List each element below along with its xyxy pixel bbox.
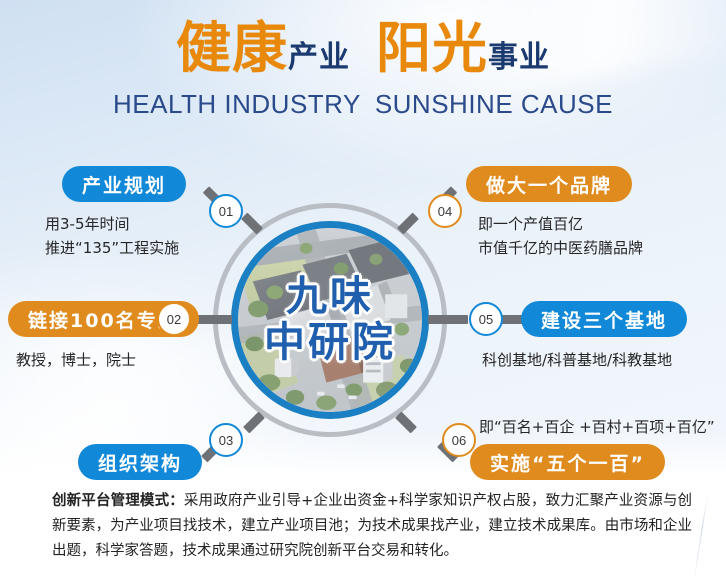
title-health-big: 健康 xyxy=(176,16,288,80)
node-03-pill[interactable]: 组织架构 xyxy=(78,444,202,480)
title-sunshine-small: 事业 xyxy=(488,40,550,75)
node-05-number: 05 xyxy=(479,312,493,327)
hub-blue-ring xyxy=(231,221,429,419)
node-02-badge[interactable]: 02 xyxy=(157,302,191,336)
node-03-number: 03 xyxy=(219,433,233,448)
node-03-label: 组织架构 xyxy=(98,449,182,476)
footer-paragraph: 创新平台管理模式：采用政府产业引导+企业出资金+科学家知识产权占股，致力汇聚产业… xyxy=(52,489,692,564)
node-01-badge[interactable]: 01 xyxy=(209,194,243,228)
footer-lead: 创新平台管理模式： xyxy=(52,493,184,509)
node-04-desc-line-1: 即一个产值百亿 xyxy=(478,212,643,236)
center-hub: 九味 中研院 xyxy=(213,203,447,437)
subtitle-health-industry: HEALTH INDUSTRY xyxy=(113,89,361,119)
connector-05-outer xyxy=(501,315,523,324)
node-05-pill[interactable]: 建设三个基地 xyxy=(521,301,687,337)
node-06-number: 06 xyxy=(452,433,466,448)
node-01-number: 01 xyxy=(219,204,233,219)
node-04-pill[interactable]: 做大一个品牌 xyxy=(466,166,632,202)
node-03-badge[interactable]: 03 xyxy=(209,423,243,457)
node-05-label: 建设三个基地 xyxy=(541,306,667,333)
connector-05-inner xyxy=(428,315,468,324)
node-04-label: 做大一个品牌 xyxy=(486,171,612,198)
node-01-desc-line-2: 推进“135”工程实施 xyxy=(45,236,179,260)
node-01-pill[interactable]: 产业规划 xyxy=(62,166,186,202)
node-04-desc: 即一个产值百亿 市值千亿的中医药膳品牌 xyxy=(478,212,643,261)
node-01-label: 产业规划 xyxy=(82,171,166,198)
node-01-desc-line-1: 用3-5年时间 xyxy=(45,212,179,236)
node-05-badge[interactable]: 05 xyxy=(469,302,503,336)
node-04-badge[interactable]: 04 xyxy=(428,194,462,228)
poster-header: 健康产业阳光事业 HEALTH INDUSTRYSUNSHINE CAUSE xyxy=(0,0,726,120)
node-02-number: 02 xyxy=(167,312,181,327)
node-06-badge[interactable]: 06 xyxy=(442,423,476,457)
node-04-number: 04 xyxy=(438,204,452,219)
title-health-small: 产业 xyxy=(288,40,350,75)
poster-subtitle: HEALTH INDUSTRYSUNSHINE CAUSE xyxy=(0,89,726,120)
node-06-label: 实施“五个一百” xyxy=(490,449,645,476)
node-06-pill[interactable]: 实施“五个一百” xyxy=(470,444,665,480)
node-01-desc: 用3-5年时间 推进“135”工程实施 xyxy=(45,212,179,261)
node-06-desc-line-1: 即“百名+百企 +百村+百项+百亿” xyxy=(479,415,715,439)
node-06-desc: 即“百名+百企 +百村+百项+百亿” xyxy=(479,415,715,439)
poster-title: 健康产业阳光事业 xyxy=(0,21,726,76)
title-sunshine-big: 阳光 xyxy=(376,16,488,80)
campus-aerial-photo xyxy=(238,228,422,412)
node-02-desc: 教授，博士，院士 xyxy=(16,348,136,372)
node-02-desc-line-1: 教授，博士，院士 xyxy=(16,348,136,372)
infographic-poster: 健康产业阳光事业 HEALTH INDUSTRYSUNSHINE CAUSE xyxy=(0,0,726,576)
node-04-desc-line-2: 市值千亿的中医药膳品牌 xyxy=(478,236,643,260)
node-05-desc: 科创基地/科普基地/科教基地 xyxy=(482,348,672,372)
subtitle-sunshine-cause: SUNSHINE CAUSE xyxy=(375,89,613,119)
node-05-desc-line-1: 科创基地/科普基地/科教基地 xyxy=(482,348,672,372)
